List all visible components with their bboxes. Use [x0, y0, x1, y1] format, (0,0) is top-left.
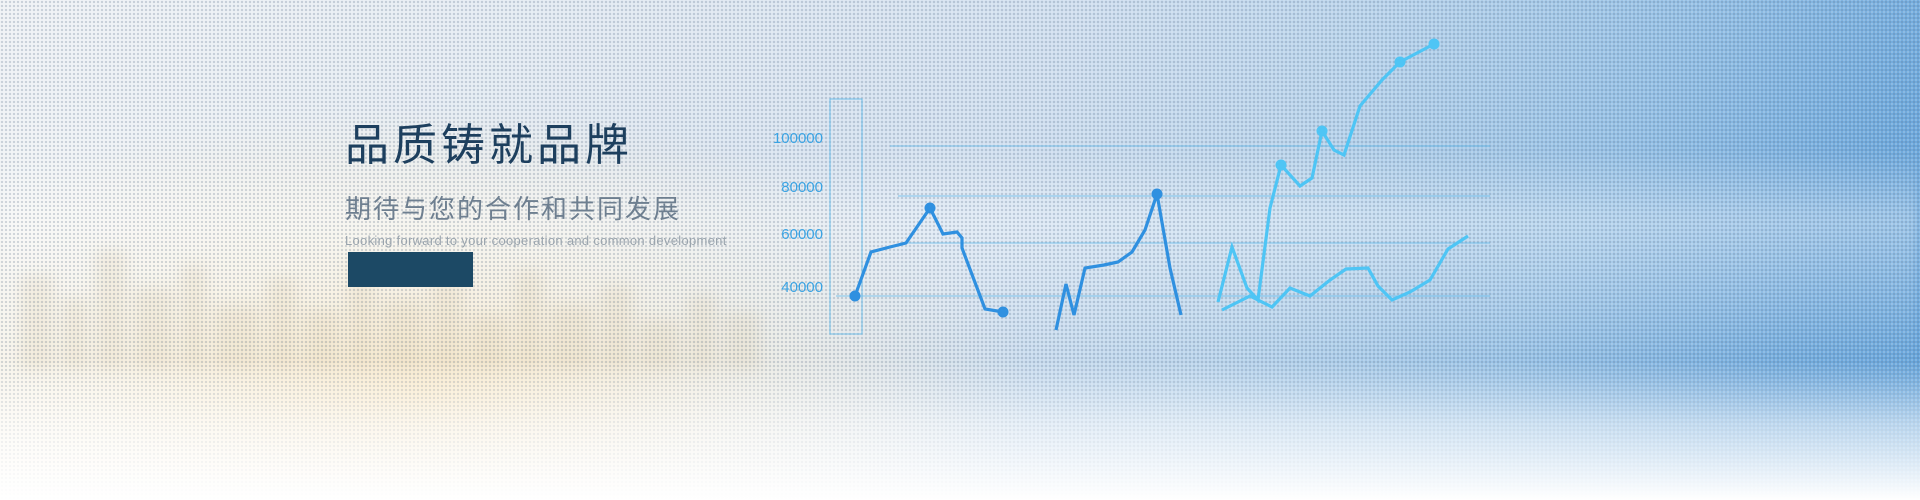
line-chart: 100000 80000 60000 40000: [760, 0, 1920, 500]
chart-point-marker: [925, 203, 936, 214]
chart-line-series-light-2: [1222, 236, 1468, 310]
chart-point-marker: [1152, 189, 1163, 200]
chart-point-marker: [1317, 126, 1328, 137]
chart-point-marker: [1395, 57, 1406, 68]
page-title: 品质铸就品牌: [345, 118, 727, 173]
chart-point-marker: [1429, 39, 1440, 50]
cta-button[interactable]: [348, 252, 473, 287]
chart-line-series-dark-2: [1056, 194, 1181, 330]
y-tick-40000: 40000: [781, 279, 823, 296]
chart-line-series-light: [1218, 44, 1434, 302]
page-tagline-english: Looking forward to your cooperation and …: [345, 233, 727, 248]
hero-copy: 品质铸就品牌 期待与您的合作和共同发展 Looking forward to y…: [345, 118, 727, 248]
chart-point-marker: [998, 307, 1009, 318]
y-tick-100000: 100000: [773, 130, 823, 147]
chart-point-marker: [1276, 160, 1287, 171]
y-tick-60000: 60000: [781, 226, 823, 243]
chart-point-marker: [850, 291, 861, 302]
chart-series-layer: [850, 39, 1469, 331]
hero-banner: 100000 80000 60000 40000 品质铸就品牌 期待与您的合作和…: [0, 0, 1920, 500]
y-tick-80000: 80000: [781, 179, 823, 196]
chart-y-axis-labels: 100000 80000 60000 40000: [773, 130, 823, 296]
page-subtitle: 期待与您的合作和共同发展: [345, 189, 727, 226]
